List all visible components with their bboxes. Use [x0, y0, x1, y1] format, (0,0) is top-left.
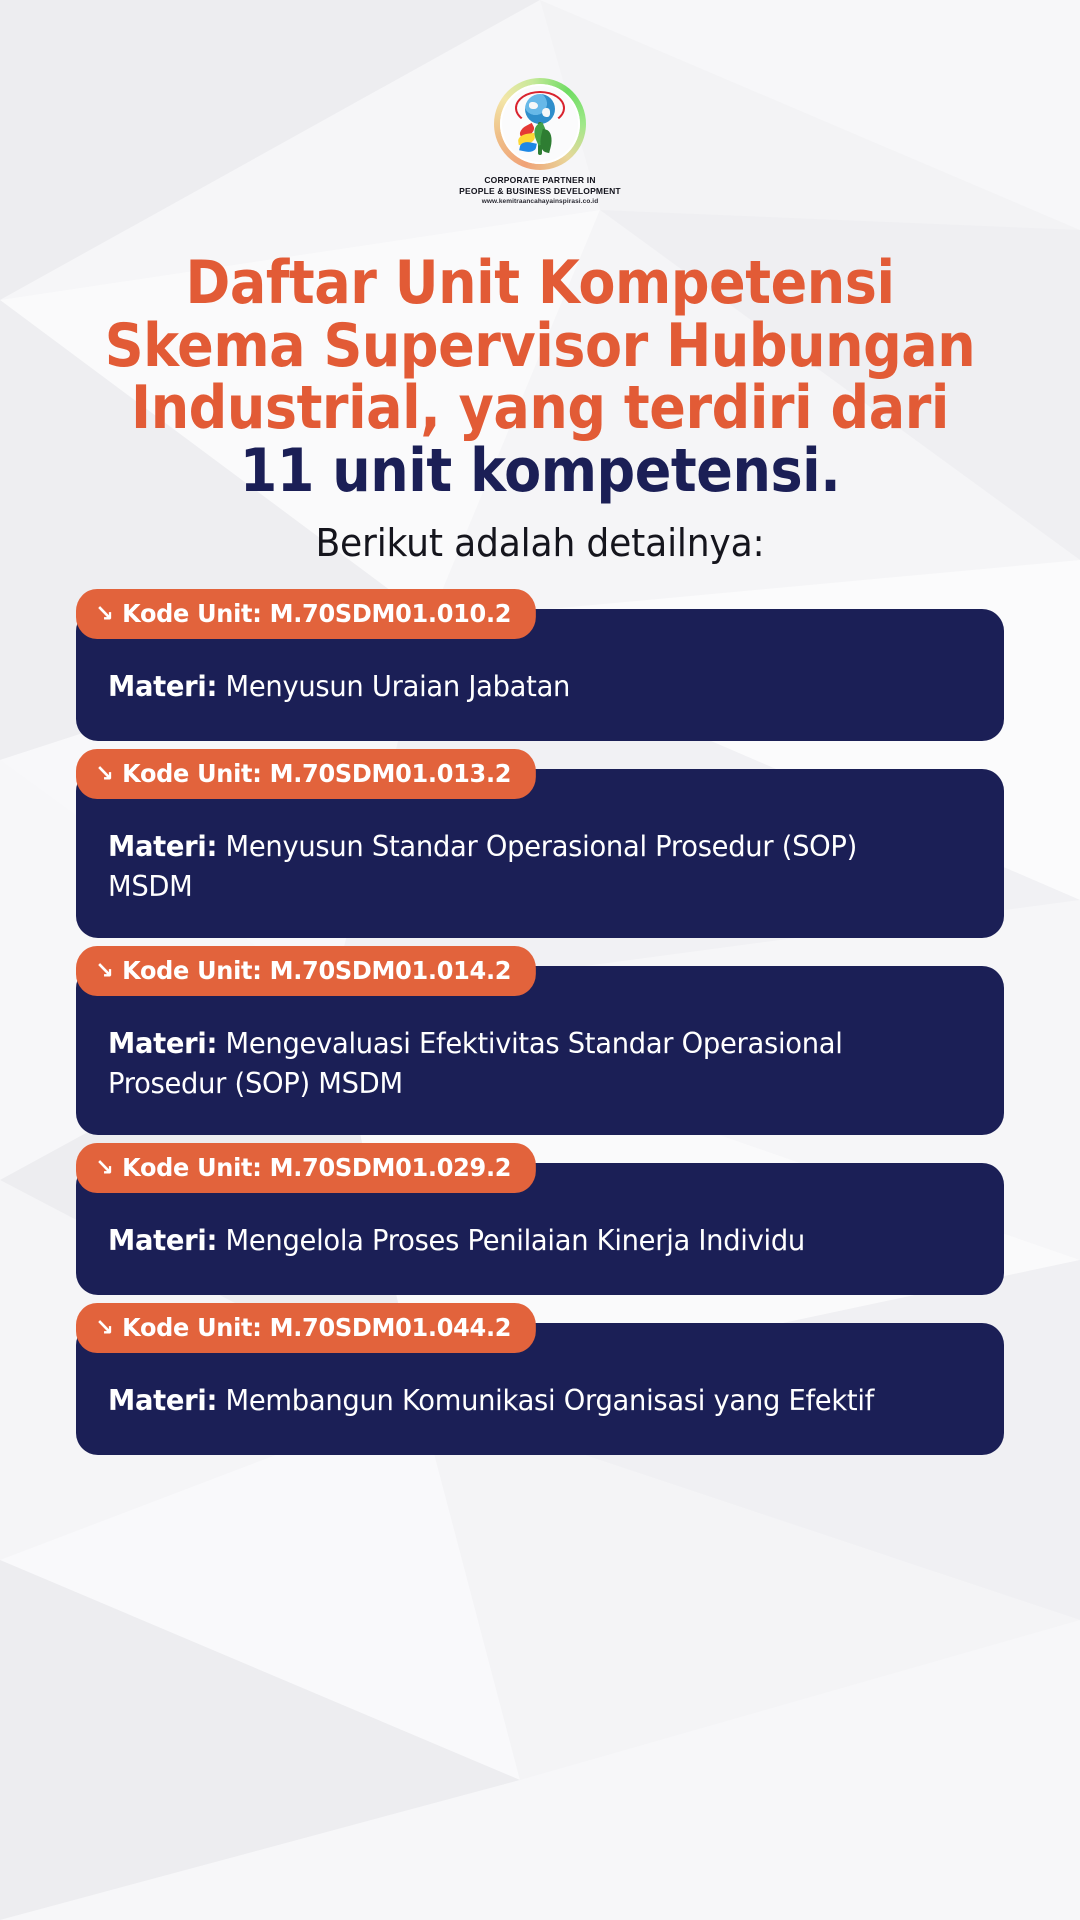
materi-text: Materi: Menyusun Standar Operasional Pro…	[108, 827, 937, 908]
company-logo-icon	[494, 78, 586, 170]
globe-icon	[525, 94, 555, 124]
unit-code-badge: ↘ Kode Unit: M.70SDM01.014.2	[76, 946, 536, 996]
kode-prefix-label: Kode Unit:	[122, 1153, 261, 1182]
logo-tagline-block: CORPORATE PARTNER IN PEOPLE & BUSINESS D…	[459, 175, 621, 206]
logo-tagline-line2: PEOPLE & BUSINESS DEVELOPMENT	[459, 186, 621, 197]
page-title: Daftar Unit Kompetensi Skema Supervisor …	[54, 252, 1026, 503]
unit-code-badge: ↘ Kode Unit: M.70SDM01.010.2	[76, 589, 536, 639]
headline-line-4: 11 unit kompetensi.	[54, 440, 1026, 503]
unit-code-badge: ↘ Kode Unit: M.70SDM01.013.2	[76, 749, 536, 799]
unit-code-text: Kode Unit: M.70SDM01.029.2	[122, 1153, 511, 1182]
unit-code-badge: ↘ Kode Unit: M.70SDM01.029.2	[76, 1143, 536, 1193]
unit-code-text: Kode Unit: M.70SDM01.013.2	[122, 759, 511, 788]
materi-value: Menyusun Uraian Jabatan	[226, 670, 571, 703]
materi-prefix-label: Materi:	[108, 1224, 217, 1257]
materi-prefix-label: Materi:	[108, 670, 217, 703]
unit-code-text: Kode Unit: M.70SDM01.014.2	[122, 956, 511, 985]
kode-prefix-label: Kode Unit:	[122, 759, 261, 788]
unit-code-value: M.70SDM01.044.2	[270, 1313, 512, 1342]
materi-prefix-label: Materi:	[108, 1384, 217, 1417]
unit-code-badge: ↘ Kode Unit: M.70SDM01.044.2	[76, 1303, 536, 1353]
list-item: ↘ Kode Unit: M.70SDM01.014.2 Materi: Men…	[76, 966, 1004, 1135]
leaf-blue-shape	[519, 140, 537, 153]
unit-code-text: Kode Unit: M.70SDM01.044.2	[122, 1313, 511, 1342]
materi-value: Membangun Komunikasi Organisasi yang Efe…	[226, 1384, 874, 1417]
materi-prefix-label: Materi:	[108, 830, 217, 863]
kode-prefix-label: Kode Unit:	[122, 1313, 261, 1342]
headline-line-2: Skema Supervisor Hubungan	[54, 315, 1026, 378]
page-subtitle: Berikut adalah detailnya:	[27, 521, 1053, 565]
materi-text: Materi: Mengevaluasi Efektivitas Standar…	[108, 1024, 937, 1105]
unit-code-value: M.70SDM01.013.2	[270, 759, 512, 788]
arrow-down-right-icon: ↘	[95, 603, 113, 626]
unit-code-value: M.70SDM01.014.2	[270, 956, 512, 985]
list-item: ↘ Kode Unit: M.70SDM01.029.2 Materi: Men…	[76, 1163, 1004, 1295]
plant-icon	[517, 122, 563, 156]
kode-prefix-label: Kode Unit:	[122, 956, 261, 985]
kode-prefix-label: Kode Unit:	[122, 599, 261, 628]
unit-code-value: M.70SDM01.010.2	[270, 599, 512, 628]
arrow-down-right-icon: ↘	[95, 1157, 113, 1180]
unit-code-text: Kode Unit: M.70SDM01.010.2	[122, 599, 511, 628]
list-item: ↘ Kode Unit: M.70SDM01.044.2 Materi: Mem…	[76, 1323, 1004, 1455]
brand-logo-block: CORPORATE PARTNER IN PEOPLE & BUSINESS D…	[0, 0, 1080, 206]
logo-tagline-line1: CORPORATE PARTNER IN	[459, 175, 621, 186]
materi-text: Materi: Membangun Komunikasi Organisasi …	[108, 1381, 937, 1421]
materi-value: Mengevaluasi Efektivitas Standar Operasi…	[108, 1027, 843, 1100]
arrow-down-right-icon: ↘	[95, 960, 113, 983]
list-item: ↘ Kode Unit: M.70SDM01.010.2 Materi: Men…	[76, 609, 1004, 741]
arrow-down-right-icon: ↘	[95, 763, 113, 786]
arrow-down-right-icon: ↘	[95, 1317, 113, 1340]
materi-text: Materi: Mengelola Proses Penilaian Kiner…	[108, 1221, 937, 1261]
materi-value: Mengelola Proses Penilaian Kinerja Indiv…	[226, 1224, 805, 1257]
materi-text: Materi: Menyusun Uraian Jabatan	[108, 667, 937, 707]
headline-line-1: Daftar Unit Kompetensi	[54, 252, 1026, 315]
materi-value: Menyusun Standar Operasional Prosedur (S…	[108, 830, 857, 903]
logo-website-url: www.kemitraancahayainspirasi.co.id	[459, 198, 621, 206]
competency-unit-list: ↘ Kode Unit: M.70SDM01.010.2 Materi: Men…	[0, 609, 1080, 1455]
list-item: ↘ Kode Unit: M.70SDM01.013.2 Materi: Men…	[76, 769, 1004, 938]
logo-inner-art	[503, 87, 577, 161]
poster-page: CORPORATE PARTNER IN PEOPLE & BUSINESS D…	[0, 0, 1080, 1920]
materi-prefix-label: Materi:	[108, 1027, 217, 1060]
headline-line-3: Industrial, yang terdiri dari	[54, 377, 1026, 440]
unit-code-value: M.70SDM01.029.2	[270, 1153, 512, 1182]
